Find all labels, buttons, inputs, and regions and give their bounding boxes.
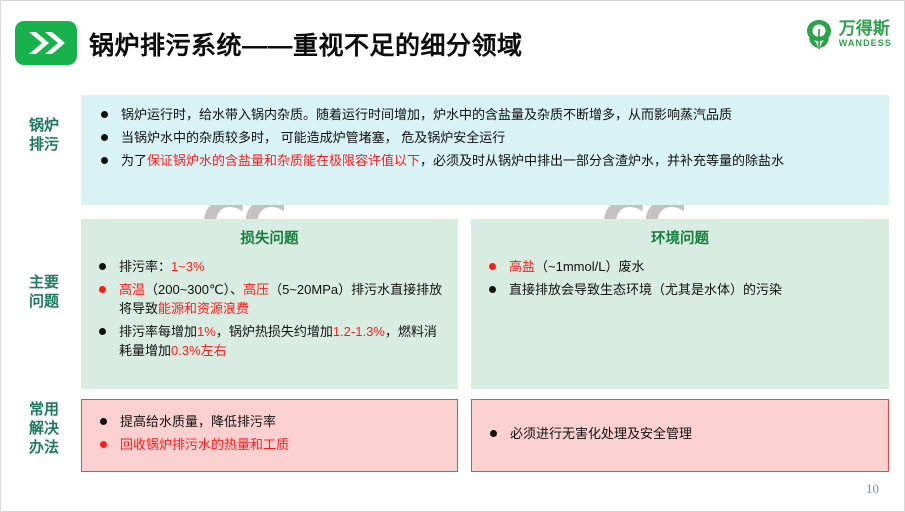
row-label-line: 解决 [13, 419, 75, 438]
bullet-text-run: 必须进行无害化处理及安全管理 [510, 426, 692, 441]
bullet-list: 必须进行无害化处理及安全管理 [484, 424, 876, 443]
list-item: 必须进行无害化处理及安全管理 [484, 424, 876, 443]
row-label-main-problems: 主要 问题 [13, 273, 75, 311]
list-item: 为了保证锅炉水的含盐量和杂质能在极限容许值以下，必须及时从锅炉中排出一部分含渣炉… [95, 151, 875, 170]
bullet-dot-icon [101, 134, 108, 141]
double-chevron-right-icon [15, 21, 77, 65]
brand-name-en: WANDESS [839, 39, 892, 48]
list-item: 当锅炉水中的杂质较多时， 可能造成炉管堵塞， 危及锅炉安全运行 [95, 128, 875, 147]
bullet-text-run-highlight: 1% [197, 324, 216, 339]
list-item: 锅炉运行时，给水带入锅内杂质。随着运行时间增加，炉水中的含盐量及杂质不断增多，从… [95, 105, 875, 124]
bullet-list: 锅炉运行时，给水带入锅内杂质。随着运行时间增加，炉水中的含盐量及杂质不断增多，从… [95, 105, 875, 170]
bullet-dot-icon [101, 111, 108, 118]
page-title: 锅炉排污系统——重视不足的细分领域 [89, 26, 523, 62]
bullet-text-run: 锅炉运行时，给水带入锅内杂质。随着运行时间增加，炉水中的含盐量及杂质不断增多，从… [121, 107, 732, 122]
row-label-line: 主要 [13, 273, 75, 292]
slide-canvas: 锅炉排污系统——重视不足的细分领域 万得斯 WANDESS CC CC 锅炉 排… [0, 0, 905, 512]
bullet-text-run-highlight: 高压 [243, 282, 269, 297]
list-item: 排污率：1~3% [93, 257, 446, 276]
bullet-text-run: 直接排放会导致生态环境（尤其是水体）的污染 [509, 282, 782, 297]
row-label-line: 问题 [13, 292, 75, 311]
list-item: 高盐（~1mmol/L）废水 [483, 257, 877, 276]
bullet-text-run: 当锅炉水中的杂质较多时， 可能造成炉管堵塞， 危及锅炉安全运行 [121, 130, 505, 145]
bullet-text-run: （200~300℃）、 [145, 282, 243, 297]
row-label-boiler-blowdown: 锅炉 排污 [13, 116, 75, 154]
bullet-text-run: 提高给水质量，降低排污率 [120, 414, 276, 429]
bullet-dot-icon [101, 157, 108, 164]
row-label-line: 常用 [13, 400, 75, 419]
list-item: 提高给水质量，降低排污率 [94, 412, 445, 431]
brand-name-cn: 万得斯 [839, 20, 892, 37]
slide-header: 锅炉排污系统——重视不足的细分领域 万得斯 WANDESS [1, 1, 905, 83]
panel-solutions-left: 提高给水质量，降低排污率 回收锅炉排污水的热量和工质 [81, 399, 458, 472]
bullet-dot-icon [99, 286, 106, 293]
bullet-dot-icon [489, 263, 496, 270]
bullet-dot-icon [99, 263, 106, 270]
list-item: 直接排放会导致生态环境（尤其是水体）的污染 [483, 280, 877, 299]
panel-solutions-right: 必须进行无害化处理及安全管理 [471, 399, 889, 472]
row-label-common-solutions: 常用 解决 办法 [13, 400, 75, 457]
bullet-list: 高盐（~1mmol/L）废水 直接排放会导致生态环境（尤其是水体）的污染 [483, 257, 877, 299]
row-label-line: 锅炉 [13, 116, 75, 135]
row-label-line: 排污 [13, 135, 75, 154]
bullet-text-run-highlight: 回收锅炉排污水的热量和工质 [120, 437, 289, 452]
bullet-text-run: 排污率每增加 [119, 324, 197, 339]
panel-environment-problems: 环境问题 高盐（~1mmol/L）废水 直接排放会导致生态环境（尤其是水体）的污… [471, 219, 889, 389]
list-item: 回收锅炉排污水的热量和工质 [94, 435, 445, 454]
row-label-line: 办法 [13, 438, 75, 457]
bullet-text-run-highlight: 1.2-1.3% [333, 324, 385, 339]
panel-heading-loss: 损失问题 [93, 227, 446, 248]
list-item: 高温（200~300℃）、高压（5~20MPa）排污水直接排放将导致能源和资源浪… [93, 280, 446, 318]
panel-loss-problems: 损失问题 排污率：1~3% 高温（200~300℃）、高压（5~20MPa）排污… [81, 219, 458, 389]
bullet-list: 提高给水质量，降低排污率 回收锅炉排污水的热量和工质 [94, 412, 445, 454]
bullet-dot-icon [100, 418, 107, 425]
list-item: 排污率每增加1%，锅炉热损失约增加1.2-1.3%，燃料消耗量增加0.3%左右 [93, 322, 446, 360]
bullet-dot-icon [489, 286, 496, 293]
bullet-dot-icon [100, 441, 107, 448]
bullet-text-run-highlight: 能源和资源浪费 [158, 301, 249, 316]
bullet-text-run: ，锅炉热损失约增加 [216, 324, 333, 339]
bullet-text-run: 为了 [121, 153, 147, 168]
bullet-text-run-highlight: 1~3% [171, 259, 205, 274]
brand-logo-text: 万得斯 WANDESS [839, 20, 892, 48]
brand-logo: 万得斯 WANDESS [804, 13, 892, 55]
bullet-text-run-highlight: 0.3%左右 [171, 343, 227, 358]
wandess-leaf-logo-icon [804, 18, 834, 50]
bullet-text-run-highlight: 高温 [119, 282, 145, 297]
bullet-list: 排污率：1~3% 高温（200~300℃）、高压（5~20MPa）排污水直接排放… [93, 257, 446, 360]
bullet-dot-icon [490, 430, 497, 437]
page-number: 10 [866, 481, 879, 497]
bullet-text-run-highlight: 高盐 [509, 259, 535, 274]
panel-heading-environment: 环境问题 [483, 227, 877, 248]
bullet-text-run: ，必须及时从锅炉中排出一部分含渣炉水，并补充等量的除盐水 [420, 153, 784, 168]
bullet-dot-icon [99, 328, 106, 335]
bullet-text-run-highlight: 保证锅炉水的含盐量和杂质能在极限容许值以下 [147, 153, 420, 168]
panel-boiler-blowdown: 锅炉运行时，给水带入锅内杂质。随着运行时间增加，炉水中的含盐量及杂质不断增多，从… [81, 95, 889, 205]
bullet-text-run: 排污率： [119, 259, 171, 274]
bullet-text-run: （~1mmol/L）废水 [535, 259, 644, 274]
